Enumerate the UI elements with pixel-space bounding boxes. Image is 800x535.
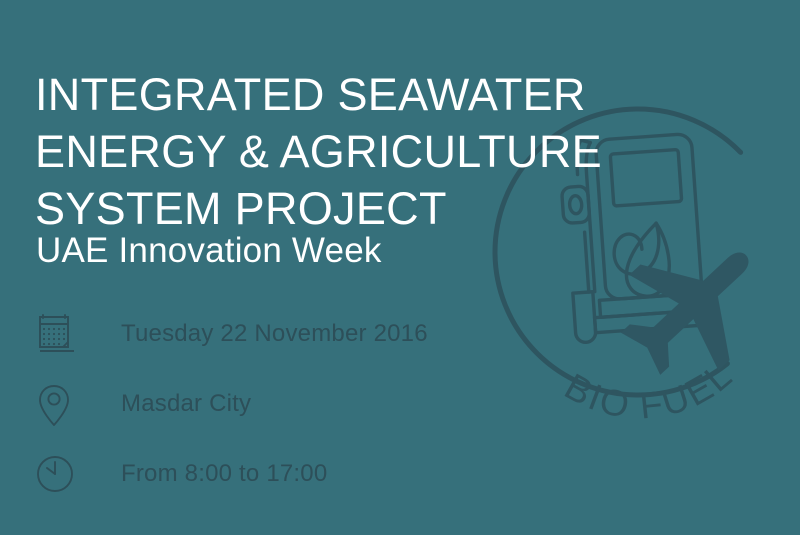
detail-label-date: Tuesday 22 November 2016 bbox=[121, 319, 428, 349]
title-line-1: INTEGRATED SEAWATER bbox=[35, 66, 565, 123]
detail-row-date: Tuesday 22 November 2016 bbox=[35, 307, 428, 361]
title-line-2: ENERGY & AGRICULTURE bbox=[35, 123, 565, 180]
clock-icon bbox=[35, 447, 91, 501]
detail-label-time: From 8:00 to 17:00 bbox=[121, 459, 327, 489]
detail-label-location: Masdar City bbox=[121, 389, 251, 419]
airplane-icon bbox=[596, 208, 791, 402]
badge-text: BIO FUEL bbox=[558, 353, 741, 426]
event-banner: BIO FUEL INTEGRATED SEAWATER ENERGY & AG… bbox=[0, 0, 800, 535]
page-subtitle: UAE Innovation Week bbox=[36, 230, 382, 272]
title-line-3: SYSTEM PROJECT bbox=[35, 180, 565, 237]
detail-row-location: Masdar City bbox=[35, 377, 251, 431]
detail-row-time: From 8:00 to 17:00 bbox=[35, 447, 327, 501]
calendar-icon bbox=[35, 307, 91, 361]
page-title: INTEGRATED SEAWATER ENERGY & AGRICULTURE… bbox=[35, 66, 565, 237]
map-pin-icon bbox=[35, 377, 91, 431]
banner-content: INTEGRATED SEAWATER ENERGY & AGRICULTURE… bbox=[35, 0, 555, 535]
